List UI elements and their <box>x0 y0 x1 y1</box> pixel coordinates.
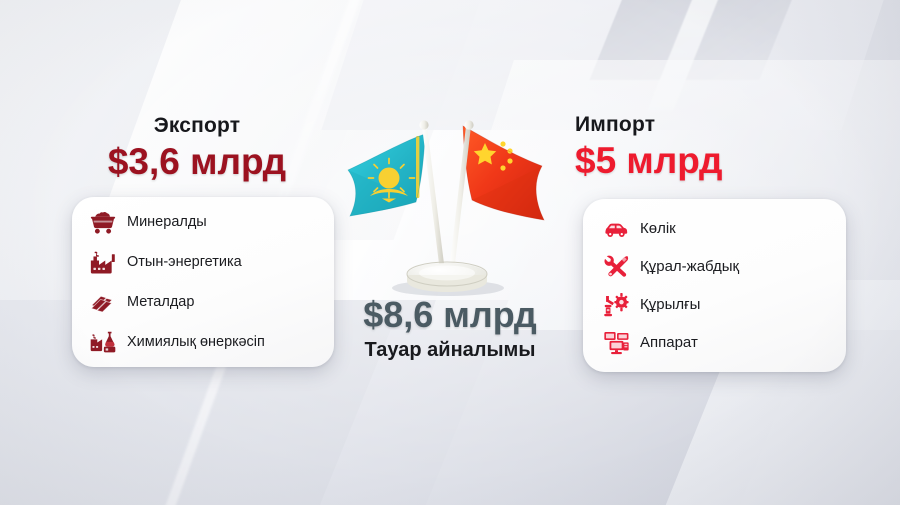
list-item-label: Аппарат <box>640 334 698 351</box>
metal-bars-icon <box>88 288 118 316</box>
china-flag <box>463 126 544 220</box>
list-item[interactable]: Металдар <box>88 282 334 322</box>
import-category-card: Көлік Құрал-жабдық <box>583 199 846 372</box>
list-item-label: Минералды <box>127 214 207 230</box>
tools-icon <box>601 253 631 281</box>
list-item[interactable]: Химиялық өнеркәсіп <box>88 322 334 362</box>
total-turnover-block: $8,6 млрд Тауар айналымы <box>318 297 582 360</box>
import-heading: Импорт $5 млрд <box>575 114 829 179</box>
list-item[interactable]: Минералды <box>88 202 334 242</box>
list-item[interactable]: Құрылғы <box>601 286 846 324</box>
robot-arm-icon <box>601 291 631 319</box>
export-kicker: Экспорт <box>72 115 322 136</box>
export-heading: Экспорт $3,6 млрд <box>72 115 322 180</box>
list-item[interactable]: Құрал-жабдық <box>601 248 846 286</box>
list-item[interactable]: Аппарат <box>601 324 846 362</box>
list-item[interactable]: Отын-энергетика <box>88 242 334 282</box>
import-kicker: Импорт <box>575 114 829 135</box>
flags-illustration <box>330 112 570 302</box>
chemistry-icon <box>88 328 118 356</box>
car-icon <box>601 215 631 243</box>
factory-icon <box>88 248 118 276</box>
list-item-label: Көлік <box>640 220 676 237</box>
list-item-label: Металдар <box>127 294 194 310</box>
flag-pole-left <box>422 126 445 272</box>
import-amount: $5 млрд <box>575 142 829 179</box>
list-item-label: Отын-энергетика <box>127 254 242 270</box>
infographic-stage: Экспорт $3,6 млрд Импорт $5 млрд Мине <box>0 0 900 505</box>
flag-pole-right <box>449 126 471 272</box>
list-item-label: Құрал-жабдық <box>640 258 739 275</box>
list-item-label: Құрылғы <box>640 296 700 313</box>
total-amount: $8,6 млрд <box>318 297 582 333</box>
flag-stand <box>407 262 487 292</box>
total-label: Тауар айналымы <box>318 340 582 360</box>
list-item[interactable]: Көлік <box>601 210 846 248</box>
export-amount: $3,6 млрд <box>72 143 322 180</box>
mine-cart-icon <box>88 208 118 236</box>
list-item-label: Химиялық өнеркәсіп <box>127 334 265 350</box>
kazakhstan-flag <box>348 134 425 216</box>
export-category-card: Минералды <box>72 197 334 367</box>
computer-icon <box>601 329 631 357</box>
